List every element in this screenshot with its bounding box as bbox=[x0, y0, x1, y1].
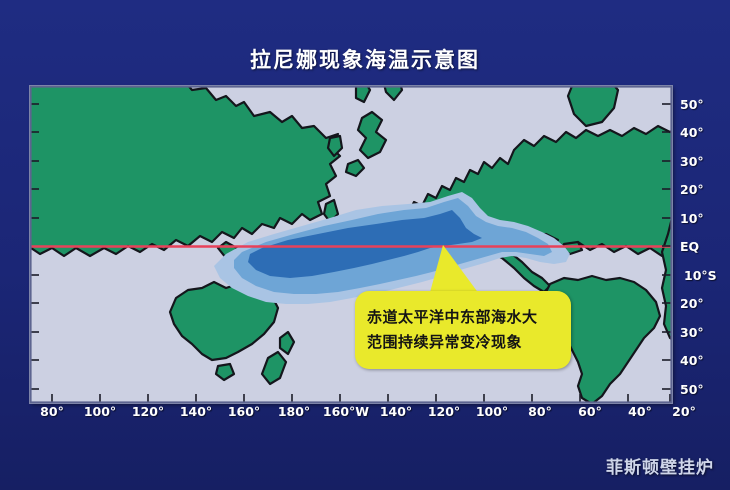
latitude-axis: 50° 40° 30° 20° 10° EQ 10°S 20° 30° 40° … bbox=[676, 86, 730, 403]
callout-box[interactable]: 赤道太平洋中东部海水大 范围持续异常变冷现象 bbox=[355, 291, 571, 369]
lat-label-0: 50° bbox=[680, 97, 704, 112]
page-title: 拉尼娜现象海温示意图 bbox=[0, 44, 730, 74]
lon-label-9: 100° bbox=[476, 404, 508, 419]
lon-label-7: 140° bbox=[380, 404, 412, 419]
lon-label-10: 80° bbox=[528, 404, 552, 419]
lat-label-7: 20° bbox=[680, 296, 704, 311]
lon-label-3: 140° bbox=[180, 404, 212, 419]
lon-label-4: 160° bbox=[228, 404, 260, 419]
lon-label-13: 20° bbox=[672, 404, 696, 419]
callout-line-2: 范围持续异常变冷现象 bbox=[367, 330, 559, 355]
world-map bbox=[30, 86, 672, 403]
lat-label-3: 20° bbox=[680, 182, 704, 197]
lat-label-1: 40° bbox=[680, 125, 704, 140]
lat-label-5: EQ bbox=[680, 239, 699, 254]
map-canvas bbox=[30, 86, 672, 403]
lon-label-12: 40° bbox=[628, 404, 652, 419]
lon-label-0: 80° bbox=[40, 404, 64, 419]
callout-line-1: 赤道太平洋中东部海水大 bbox=[367, 305, 559, 330]
lon-label-11: 60° bbox=[578, 404, 602, 419]
lat-label-4: 10° bbox=[680, 211, 704, 226]
poster-root: 拉尼娜现象海温示意图 bbox=[0, 0, 730, 490]
lon-label-1: 100° bbox=[84, 404, 116, 419]
lat-label-6: 10°S bbox=[684, 268, 717, 283]
lon-label-8: 120° bbox=[428, 404, 460, 419]
lon-label-2: 120° bbox=[132, 404, 164, 419]
lat-label-9: 40° bbox=[680, 353, 704, 368]
lat-label-8: 30° bbox=[680, 325, 704, 340]
longitude-axis: 80° 100° 120° 140° 160° 180° 160°W 140° … bbox=[30, 404, 730, 428]
watermark: 菲斯顿壁挂炉 bbox=[606, 453, 714, 478]
lon-label-6: 160°W bbox=[323, 404, 369, 419]
lon-label-5: 180° bbox=[278, 404, 310, 419]
lat-label-10: 50° bbox=[680, 382, 704, 397]
lat-label-2: 30° bbox=[680, 154, 704, 169]
